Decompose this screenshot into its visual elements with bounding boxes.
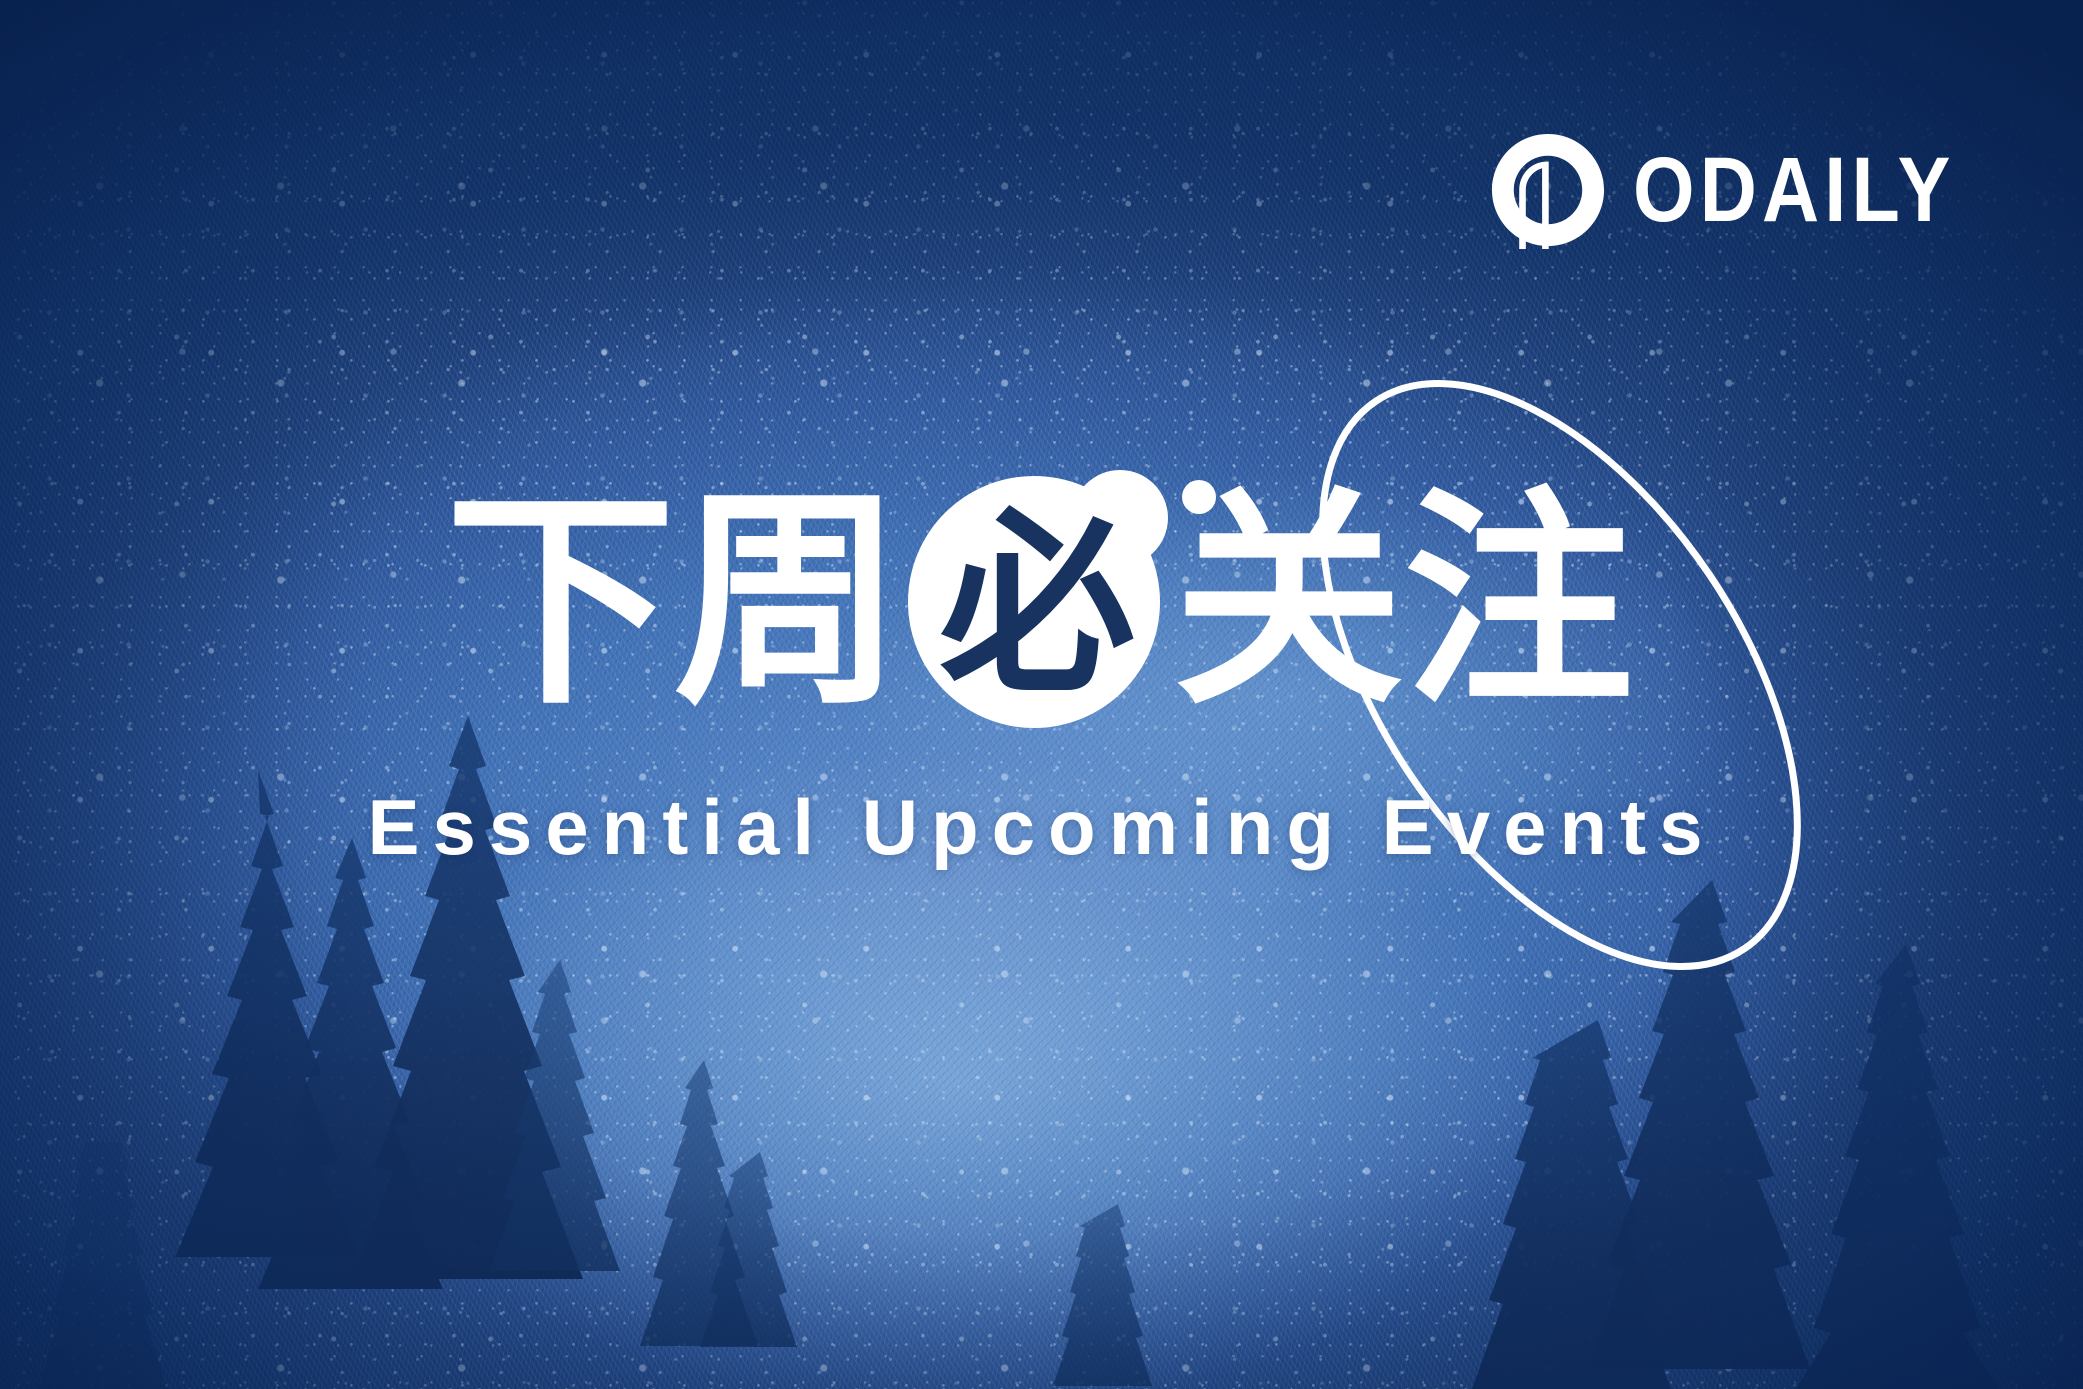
title-english-subtitle: Essential Upcoming Events [368,788,1716,866]
title-char-guan: 关 [1174,487,1408,717]
odaily-logo[interactable]: ODAILY [1489,130,2008,250]
title-block: 下 周 必 关 注 Essential Upcoming Events [0,468,2083,866]
poster-content: ODAILY 下 周 必 关 注 Essential Upcoming Even… [0,0,2083,1389]
title-char-zhu: 注 [1404,487,1638,717]
odaily-logo-mark-icon [1489,131,1607,249]
odaily-wordmark: ODAILY [1633,144,1956,236]
title-badge-bi: 必 [908,470,1172,734]
title-char-xia: 下 [445,487,679,717]
poster-canvas: ODAILY 下 周 必 关 注 Essential Upcoming Even… [0,0,2083,1389]
badge-char-bi: 必 [908,470,1172,734]
title-char-zhou: 周 [673,487,907,717]
accent-dot [1182,480,1216,514]
title-chinese: 下 周 必 关 注 [445,468,1637,736]
